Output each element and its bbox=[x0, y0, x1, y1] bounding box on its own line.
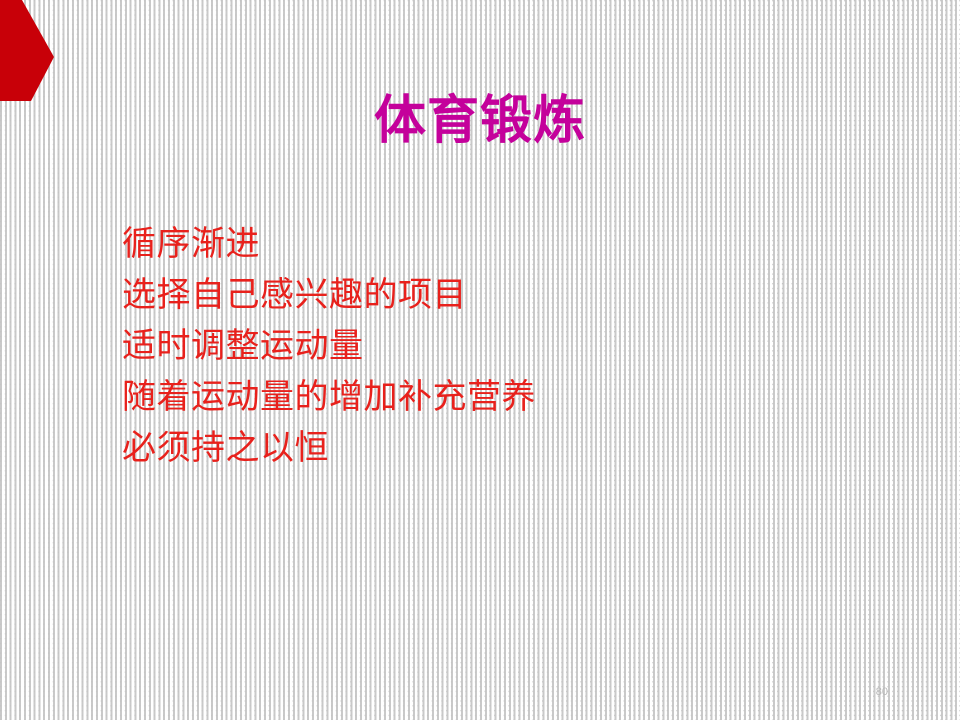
bullet-list: 循序渐进 选择自己感兴趣的项目 适时调整运动量 随着运动量的增加补充营养 必须持… bbox=[122, 219, 536, 474]
list-item: 随着运动量的增加补充营养 bbox=[122, 372, 536, 423]
list-item: 适时调整运动量 bbox=[122, 321, 536, 372]
list-item: 循序渐进 bbox=[122, 219, 536, 270]
slide-canvas: 体育锻炼 循序渐进 选择自己感兴趣的项目 适时调整运动量 随着运动量的增加补充营… bbox=[0, 0, 960, 720]
list-item: 必须持之以恒 bbox=[122, 423, 536, 474]
list-item: 选择自己感兴趣的项目 bbox=[122, 270, 536, 321]
page-number: 80 bbox=[876, 686, 888, 698]
page-title: 体育锻炼 bbox=[0, 92, 960, 152]
red-corner-polygon-decoration bbox=[0, 0, 60, 105]
